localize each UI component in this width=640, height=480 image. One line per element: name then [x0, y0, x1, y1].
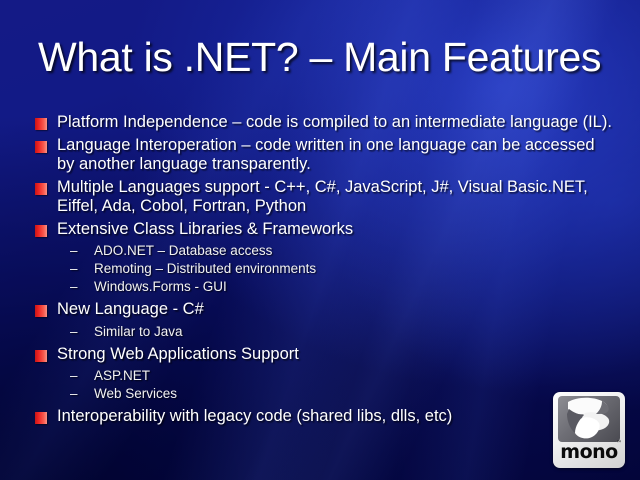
- bullet-item: Language Interoperation – code written i…: [32, 136, 612, 175]
- sub-bullet-item: – Similar to Java: [32, 323, 612, 341]
- bullet-item: Strong Web Applications Support: [32, 345, 612, 365]
- dash-bullet-icon: –: [70, 367, 78, 385]
- red-square-bullet-icon: [35, 183, 47, 195]
- sub-bullet-item: – ADO.NET – Database access: [32, 242, 612, 260]
- presentation-slide: What is .NET? – Main Features Platform I…: [0, 0, 640, 480]
- mono-wordmark: mono: [553, 442, 625, 463]
- trademark-symbol: ™: [616, 440, 622, 447]
- bullet-text: Strong Web Applications Support: [57, 345, 299, 363]
- red-square-bullet-icon: [35, 305, 47, 317]
- bullet-item: Interoperability with legacy code (share…: [32, 407, 612, 427]
- red-square-bullet-icon: [35, 350, 47, 362]
- red-square-bullet-icon: [35, 225, 47, 237]
- dash-bullet-icon: –: [70, 242, 78, 260]
- sub-bullet-item: – Web Services: [32, 385, 612, 403]
- dash-bullet-icon: –: [70, 323, 78, 341]
- sub-bullet-text: ADO.NET – Database access: [94, 243, 272, 258]
- bullet-text: Platform Independence – code is compiled…: [57, 113, 612, 131]
- sub-bullet-text: ASP.NET: [94, 368, 150, 383]
- dash-bullet-icon: –: [70, 278, 78, 296]
- bullet-text: Extensive Class Libraries & Frameworks: [57, 220, 353, 238]
- dash-bullet-icon: –: [70, 385, 78, 403]
- bullet-item: Multiple Languages support - C++, C#, Ja…: [32, 178, 612, 217]
- sub-bullet-text: Windows.Forms - GUI: [94, 279, 227, 294]
- bullet-text: Interoperability with legacy code (share…: [57, 407, 452, 425]
- mono-logo-image-panel: [558, 396, 620, 442]
- bullet-item: New Language - C#: [32, 300, 612, 320]
- sub-bullet-item: – Remoting – Distributed environments: [32, 260, 612, 278]
- red-square-bullet-icon: [35, 141, 47, 153]
- slide-title: What is .NET? – Main Features: [38, 34, 618, 80]
- sub-bullet-text: Similar to Java: [94, 324, 183, 339]
- dash-bullet-icon: –: [70, 260, 78, 278]
- red-square-bullet-icon: [35, 412, 47, 424]
- mono-logo: mono ™: [553, 392, 625, 468]
- slide-body-list: Platform Independence – code is compiled…: [32, 113, 612, 430]
- bullet-text: Language Interoperation – code written i…: [57, 136, 595, 174]
- bullet-item: Extensive Class Libraries & Frameworks: [32, 220, 612, 240]
- bullet-text: New Language - C#: [57, 300, 204, 318]
- red-square-bullet-icon: [35, 118, 47, 130]
- mono-monkey-icon: [558, 396, 620, 442]
- sub-bullet-item: – Windows.Forms - GUI: [32, 278, 612, 296]
- sub-bullet-text: Web Services: [94, 386, 177, 401]
- bullet-item: Platform Independence – code is compiled…: [32, 113, 612, 133]
- sub-bullet-item: – ASP.NET: [32, 367, 612, 385]
- bullet-text: Multiple Languages support - C++, C#, Ja…: [57, 178, 588, 216]
- sub-bullet-text: Remoting – Distributed environments: [94, 261, 316, 276]
